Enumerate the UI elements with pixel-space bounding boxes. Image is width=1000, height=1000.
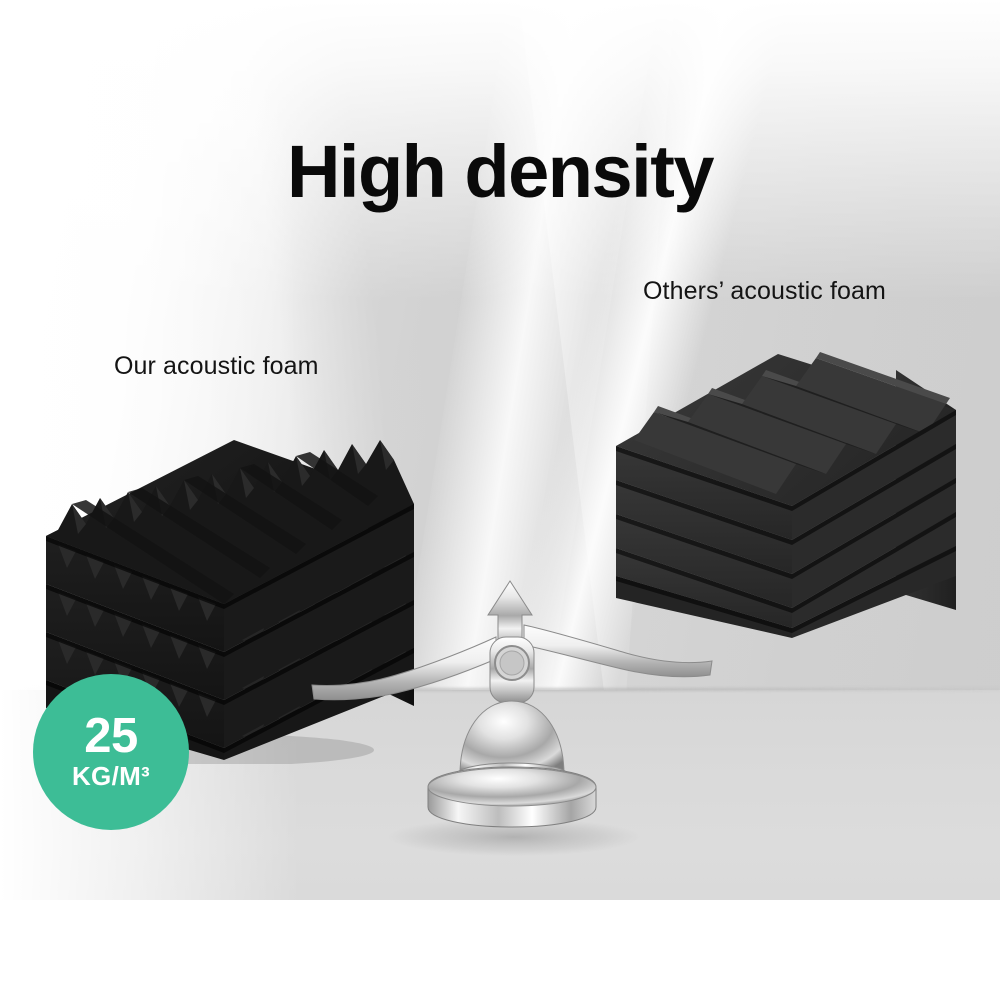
scale-base-top — [428, 768, 596, 806]
scale-pivot-inner — [500, 651, 524, 675]
label-others-foam: Others’ acoustic foam — [643, 277, 886, 306]
product-marketing-image: High density Our acoustic foam Others’ a… — [0, 0, 1000, 1000]
label-our-foam: Our acoustic foam — [114, 352, 319, 381]
scale-arm-right — [524, 625, 712, 677]
balance-scale-icon — [300, 575, 720, 865]
density-badge-unit: KG/M³ — [72, 762, 150, 791]
scale-arm-left — [312, 637, 496, 700]
density-badge: 25 KG/M³ — [33, 674, 189, 830]
bottom-white-band — [0, 900, 1000, 1000]
page-title: High density — [0, 135, 1000, 209]
density-badge-value: 25 — [84, 713, 138, 760]
